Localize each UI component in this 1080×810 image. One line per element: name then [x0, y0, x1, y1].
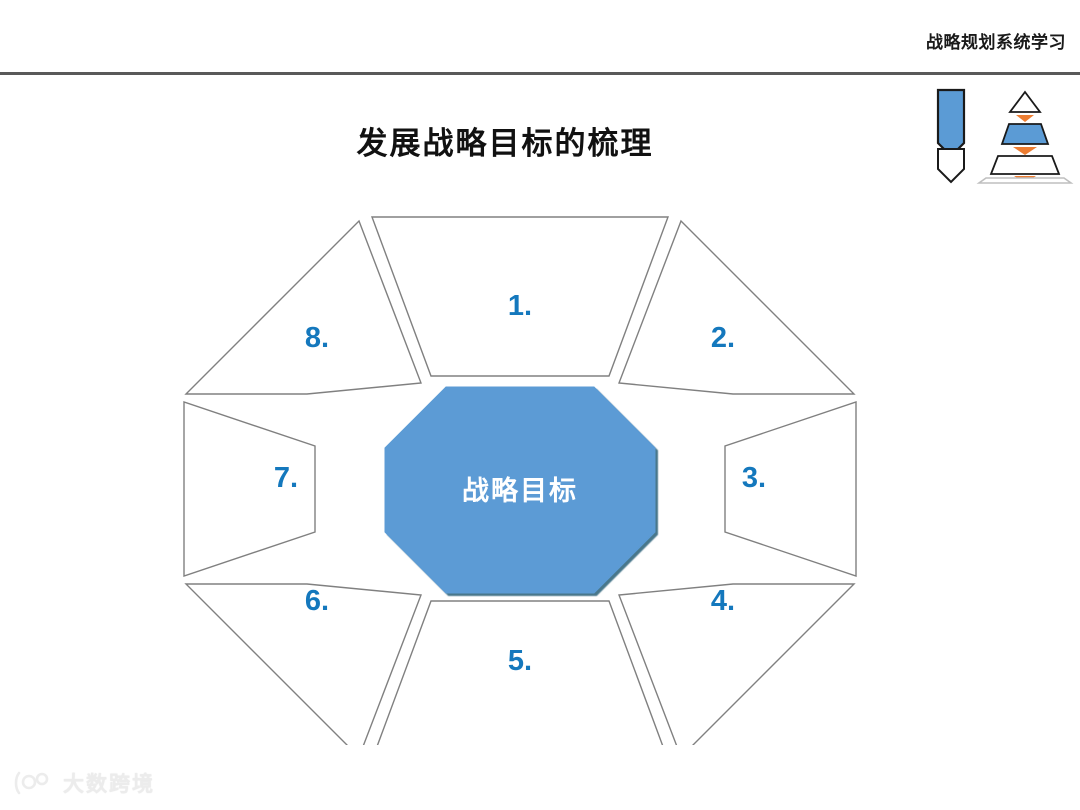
segment-4[interactable]: 4.	[619, 584, 854, 745]
header-title: 战略规划系统学习	[926, 28, 1066, 53]
segment-7[interactable]: 7.	[184, 402, 315, 576]
segment-2-label: 2.	[711, 322, 735, 354]
segment-1[interactable]: 1.	[372, 217, 668, 376]
center-octagon-label: 战略目标	[462, 475, 578, 506]
watermark: 大数跨境	[14, 768, 155, 798]
page-title: 发展战略目标的梳理	[0, 118, 1010, 163]
segment-3[interactable]: 3.	[725, 402, 856, 576]
segment-8-label: 8.	[305, 322, 329, 354]
segment-3-label: 3.	[742, 462, 766, 494]
corner-logo	[928, 86, 1074, 184]
segment-7-label: 7.	[274, 462, 298, 494]
segment-6[interactable]: 6.	[186, 584, 421, 745]
header-divider	[0, 72, 1080, 75]
segment-5[interactable]: 5.	[372, 601, 668, 745]
segment-4-label: 4.	[711, 585, 735, 617]
octagon-radial-diagram: 1. 2. 3. 4. 5.	[150, 195, 890, 745]
segment-5-label: 5.	[508, 645, 532, 677]
pyramid-icon	[979, 92, 1071, 183]
down-arrow-icon	[938, 90, 964, 182]
slide-canvas: 战略规划系统学习 发展战略目标的梳理	[0, 0, 1080, 810]
watermark-text: 大数跨境	[63, 768, 155, 798]
segment-1-label: 1.	[508, 290, 532, 322]
brand-logo-icon	[14, 770, 54, 796]
segment-6-label: 6.	[305, 585, 329, 617]
slide-header: 战略规划系统学习	[0, 0, 1080, 74]
